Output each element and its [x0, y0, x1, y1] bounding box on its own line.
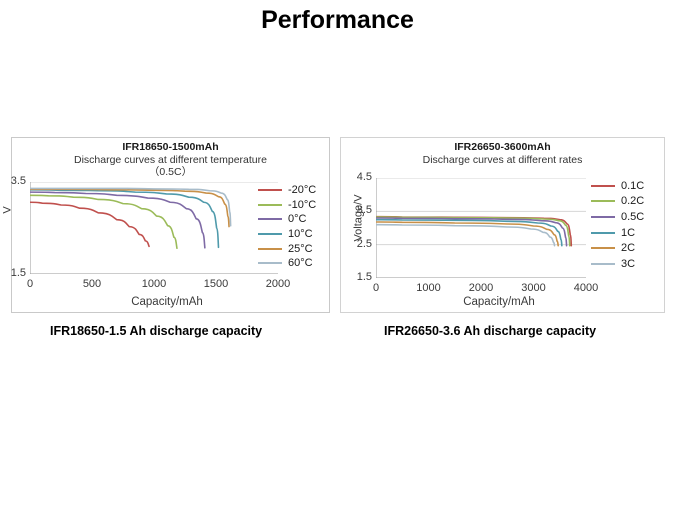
x-tick-label: 3000 — [514, 282, 554, 294]
x-tick-label: 1500 — [196, 278, 236, 290]
legend-color-swatch — [591, 200, 615, 202]
series-line — [30, 188, 231, 225]
caption-right-chart: IFR26650-3.6 Ah discharge capacity — [384, 324, 596, 338]
legend-label: 25°C — [288, 243, 313, 255]
chart-right-legend: 0.1C0.2C0.5C1C2C3C — [591, 178, 644, 272]
legend-label: 2C — [621, 242, 635, 254]
legend-label: -10°C — [288, 199, 316, 211]
legend-label: 60°C — [288, 257, 313, 269]
chart-left-subtitle: Discharge curves at different temperatur… — [12, 155, 329, 167]
chart-left-legend: -20°C-10°C0°C10°C25°C60°C — [258, 183, 316, 271]
caption-left-chart: IFR18650-1.5 Ah discharge capacity — [50, 324, 262, 338]
x-tick-label: 0 — [356, 282, 396, 294]
legend-label: 3C — [621, 258, 635, 270]
legend-label: 0°C — [288, 213, 306, 225]
legend-item[interactable]: -20°C — [258, 183, 316, 198]
chart-right-plot-area — [376, 178, 586, 278]
slide-title: Performance — [0, 6, 675, 35]
y-tick-label: 3.5 — [346, 204, 372, 216]
legend-label: 10°C — [288, 228, 313, 240]
legend-color-swatch — [591, 263, 615, 265]
chart-right-y-axis-label: Voltage/V — [353, 194, 365, 241]
legend-color-swatch — [591, 232, 615, 234]
legend-item[interactable]: 0.5C — [591, 209, 644, 225]
y-tick-label: 3.5 — [0, 175, 26, 187]
legend-color-swatch — [258, 233, 282, 235]
chart-left-plot-svg — [30, 182, 278, 274]
legend-color-swatch — [591, 247, 615, 249]
legend-color-swatch — [258, 189, 282, 191]
chart-panel-right: IFR26650-3600mAh Discharge curves at dif… — [340, 137, 665, 313]
series-line — [376, 225, 555, 246]
legend-item[interactable]: 3C — [591, 256, 644, 272]
chart-right-title-block: IFR26650-3600mAh Discharge curves at dif… — [341, 142, 664, 167]
legend-color-swatch — [258, 248, 282, 250]
y-tick-label: 4.5 — [346, 171, 372, 183]
legend-item[interactable]: 2C — [591, 240, 644, 256]
legend-label: 0.1C — [621, 180, 644, 192]
y-tick-label: 2.5 — [346, 238, 372, 250]
legend-color-swatch — [258, 262, 282, 264]
legend-label: 1C — [621, 227, 635, 239]
chart-left-plot-area — [30, 182, 278, 274]
legend-item[interactable]: 0.1C — [591, 178, 644, 194]
legend-label: -20°C — [288, 184, 316, 196]
chart-left-x-axis-label: Capacity/mAh — [42, 296, 292, 308]
legend-color-swatch — [591, 185, 615, 187]
legend-label: 0.2C — [621, 195, 644, 207]
legend-item[interactable]: -10°C — [258, 198, 316, 213]
legend-item[interactable]: 60°C — [258, 256, 316, 271]
series-line — [30, 190, 218, 248]
chart-right-subtitle: Discharge curves at different rates — [341, 155, 664, 167]
chart-left-y-axis-label: V — [2, 206, 14, 213]
legend-item[interactable]: 1C — [591, 225, 644, 241]
chart-right-plot-svg — [376, 178, 586, 278]
chart-right-title: IFR26650-3600mAh — [341, 142, 664, 154]
legend-color-swatch — [258, 204, 282, 206]
chart-left-title-block: IFR18650-1500mAh Discharge curves at dif… — [12, 142, 329, 178]
legend-label: 0.5C — [621, 211, 644, 223]
chart-left-title: IFR18650-1500mAh — [12, 142, 329, 154]
x-tick-label: 4000 — [566, 282, 606, 294]
series-line — [30, 202, 149, 246]
x-tick-label: 1000 — [409, 282, 449, 294]
x-tick-label: 2000 — [258, 278, 298, 290]
legend-item[interactable]: 0.2C — [591, 194, 644, 210]
x-tick-label: 0 — [10, 278, 50, 290]
legend-item[interactable]: 0°C — [258, 212, 316, 227]
legend-item[interactable]: 10°C — [258, 227, 316, 242]
chart-left-rate-note: （0.5C） — [12, 167, 329, 179]
x-tick-label: 2000 — [461, 282, 501, 294]
x-tick-label: 500 — [72, 278, 112, 290]
chart-right-x-axis-label: Capacity/mAh — [389, 296, 609, 308]
legend-color-swatch — [591, 216, 615, 218]
x-tick-label: 1000 — [134, 278, 174, 290]
chart-panel-left: IFR18650-1500mAh Discharge curves at dif… — [11, 137, 330, 313]
legend-item[interactable]: 25°C — [258, 241, 316, 256]
legend-color-swatch — [258, 218, 282, 220]
